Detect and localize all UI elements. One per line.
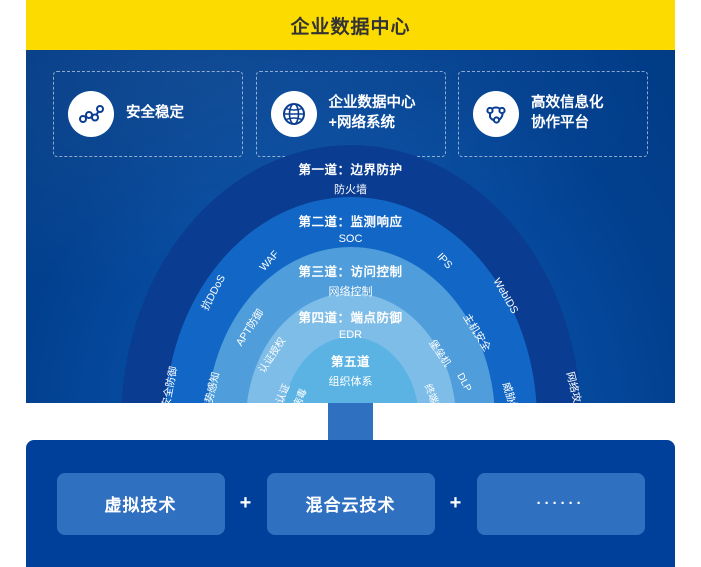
ring-heading-1: 第一道：边界防护 防火墙	[298, 159, 402, 197]
tech-box-label: 虚拟技术	[105, 491, 177, 516]
ring-heading-5: 第五道 组织体系	[329, 351, 373, 389]
ring-title: 第二道：监测响应	[298, 211, 402, 230]
plus-icon-1: +	[225, 492, 267, 515]
page-title: 企业数据中心	[290, 12, 410, 39]
tech-box-label: ······	[537, 495, 585, 512]
ring-heading-2: 第二道：监测响应 SOC	[298, 211, 402, 245]
globe-icon	[271, 91, 317, 137]
tech-box-virtualization[interactable]: 虚拟技术	[57, 473, 225, 535]
section-connector	[328, 403, 373, 441]
ring-subtitle: EDR	[298, 329, 402, 341]
feature-card-label: 安全稳定	[126, 104, 184, 124]
tech-box-hybrid-cloud[interactable]: 混合云技术	[267, 473, 435, 535]
ring-subtitle: 防火墙	[298, 181, 402, 197]
technology-row: 虚拟技术 + 混合云技术 + ······	[57, 473, 645, 535]
ring-title: 第一道：边界防护	[298, 159, 402, 178]
technology-panel: 虚拟技术 + 混合云技术 + ······	[26, 440, 675, 567]
main-diagram-panel: 安全稳定 企业数据中心 +网络系统	[26, 50, 675, 403]
ring-title: 第三道：访问控制	[298, 261, 402, 280]
network-nodes-icon	[68, 91, 114, 137]
header-bar: 企业数据中心	[26, 0, 675, 50]
tech-box-label: 混合云技术	[306, 491, 396, 516]
plus-icon-2: +	[435, 492, 477, 515]
ring-subtitle: 网络控制	[298, 283, 402, 299]
ring-heading-3: 第三道：访问控制 网络控制	[298, 261, 402, 299]
ring-title: 第四道：端点防御	[298, 307, 402, 326]
feature-card-label: 企业数据中心 +网络系统	[329, 94, 416, 133]
collaboration-icon	[473, 91, 519, 137]
defense-rings-diagram: 第一道：边界防护 防火墙 第二道：监测响应 SOC 第三道：访问控制 网络控制 …	[26, 145, 675, 403]
ring-title: 第五道	[329, 351, 373, 370]
ring-heading-4: 第四道：端点防御 EDR	[298, 307, 402, 341]
tech-box-more[interactable]: ······	[477, 473, 645, 535]
ring-subtitle: SOC	[298, 233, 402, 245]
feature-card-label: 高效信息化 协作平台	[531, 94, 604, 133]
ring-subtitle: 组织体系	[329, 373, 373, 389]
